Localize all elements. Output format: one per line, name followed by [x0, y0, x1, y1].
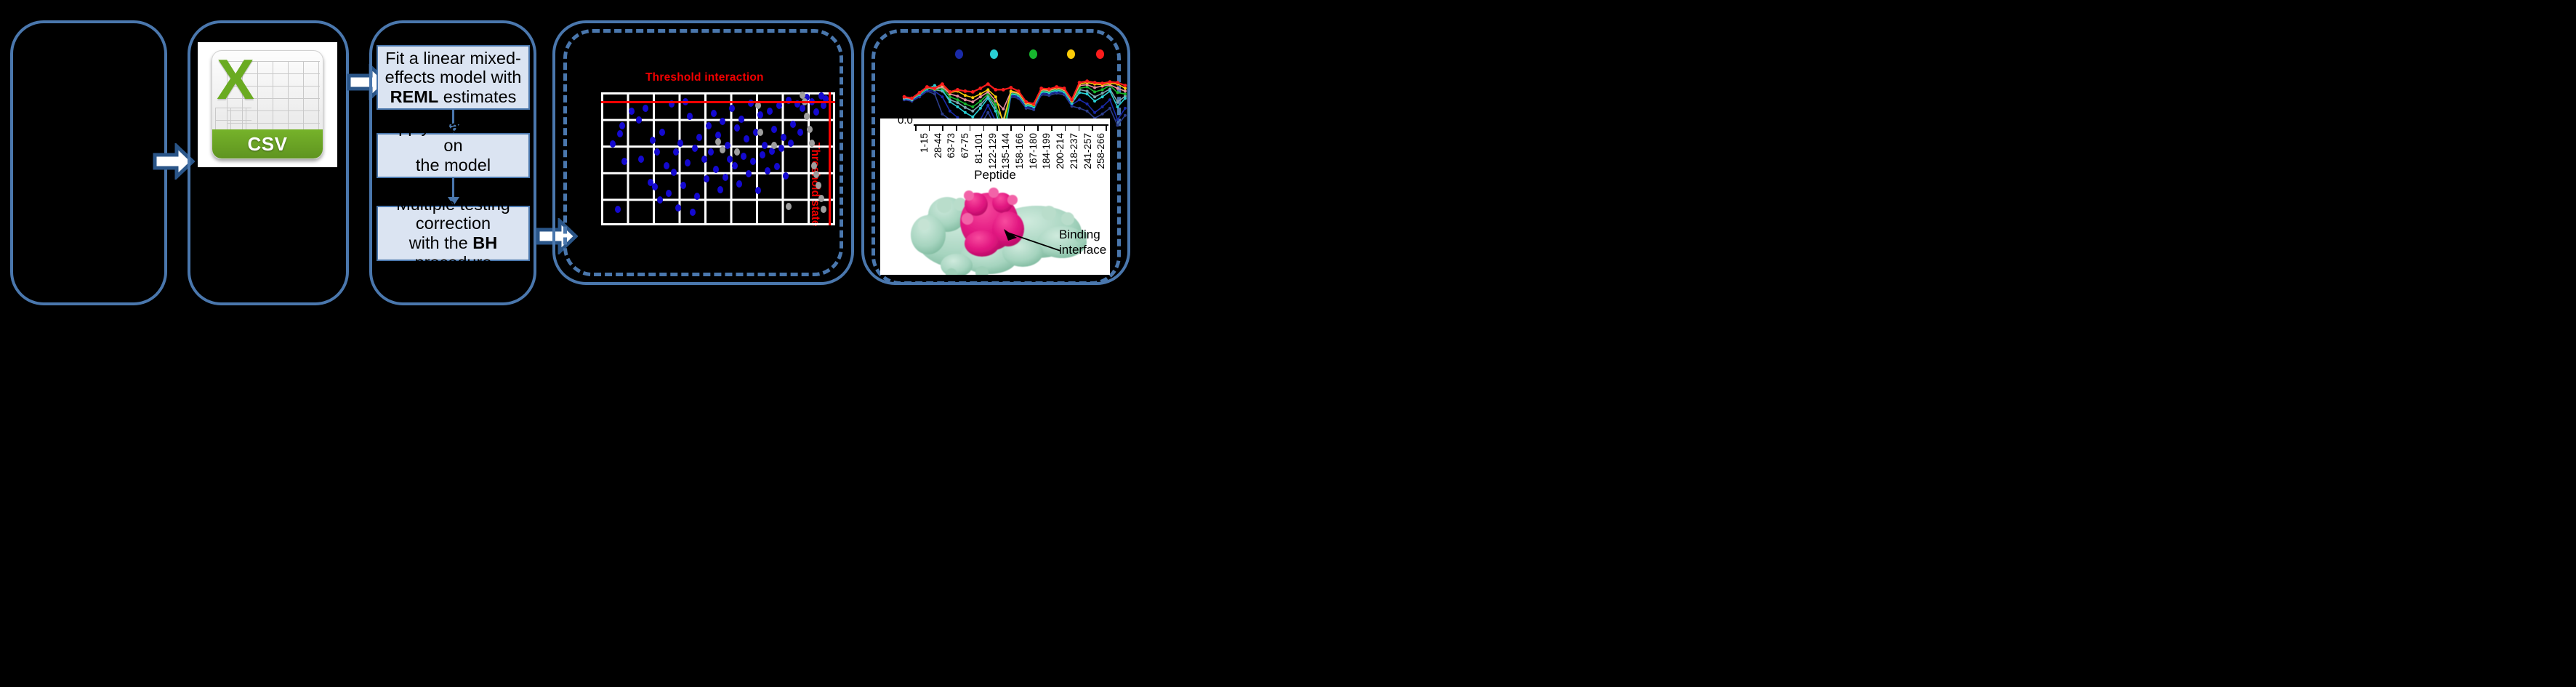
line-marker	[1101, 105, 1104, 108]
scatter-point	[715, 138, 721, 145]
peptide-label: 81-101	[973, 133, 984, 164]
peptide-label: 167-180	[1028, 133, 1039, 169]
line-marker	[986, 111, 989, 114]
x-axis-tick	[1079, 126, 1080, 131]
step3-bh-bold: BH	[472, 233, 497, 252]
line-marker	[918, 91, 922, 95]
line-marker	[1124, 87, 1127, 90]
step-wald-tests-box[interactable]: Apply Wald tests on the model parameters	[377, 133, 530, 178]
line-marker	[994, 95, 997, 98]
peptide-label: 67-75	[959, 133, 970, 158]
line-marker	[1116, 118, 1119, 121]
line-marker	[956, 88, 959, 92]
results-white-card: 0.0 1-1528-4463-7367-7581-101122-129135-…	[880, 118, 1110, 275]
line-marker	[956, 98, 959, 101]
line-marker	[1085, 79, 1089, 83]
line-marker	[971, 96, 974, 99]
volcano-scatter-plot	[601, 92, 835, 225]
line-marker	[1124, 114, 1127, 117]
line-marker	[1093, 81, 1097, 84]
line-marker	[910, 97, 914, 100]
x-axis-tick	[956, 126, 957, 131]
line-marker	[1047, 87, 1051, 91]
line-marker	[956, 105, 959, 108]
line-marker	[1093, 90, 1096, 93]
x-axis-tick	[1065, 126, 1066, 131]
line-marker	[1124, 84, 1127, 87]
line-marker	[979, 103, 982, 106]
line-marker	[986, 88, 989, 91]
threshold-interaction-line	[601, 101, 835, 103]
x-axis-tick	[1106, 126, 1107, 131]
line-marker	[1024, 100, 1028, 104]
line-marker	[964, 98, 967, 101]
step-fit-model-box[interactable]: Fit a linear mixed- effects model with R…	[377, 45, 530, 110]
line-marker	[956, 95, 959, 97]
scatter-point	[746, 170, 752, 177]
line-marker	[1108, 89, 1111, 92]
x-axis-tick	[983, 126, 985, 131]
line-marker	[1116, 91, 1119, 94]
scatter-point	[664, 162, 669, 169]
csv-band: CSV	[212, 129, 323, 158]
x-axis-title: Peptide	[880, 168, 1110, 182]
scatter-point	[790, 121, 796, 128]
line-marker	[994, 103, 997, 106]
scatter-point	[717, 186, 723, 193]
line-marker	[1108, 98, 1111, 101]
x-axis-tick	[970, 126, 971, 131]
line-marker	[1124, 89, 1127, 92]
line-marker	[964, 94, 967, 97]
legend-dot-series-green	[1029, 49, 1037, 59]
step-multiple-testing-box[interactable]: Multiple testing correction with the BH …	[377, 206, 530, 261]
line-marker	[971, 100, 974, 103]
line-marker	[1124, 107, 1127, 110]
step3-line3-post: procedure	[415, 253, 492, 272]
scatter-point	[694, 193, 700, 200]
line-marker	[971, 90, 975, 94]
line-marker	[979, 107, 982, 110]
x-axis-tick	[942, 126, 943, 131]
scatter-gridlines	[601, 92, 835, 225]
line-marker	[978, 87, 982, 90]
peptide-label: 135-144	[1000, 133, 1011, 169]
step3-line3-pre: with the	[409, 233, 473, 252]
x-axis-tick	[1051, 126, 1052, 131]
line-marker	[1108, 80, 1112, 84]
line-marker	[964, 111, 967, 114]
scatter-point	[811, 162, 817, 169]
line-marker	[1078, 81, 1082, 84]
line-marker	[1039, 87, 1043, 90]
peptide-label: 1-15	[919, 133, 930, 153]
scatter-point	[788, 140, 794, 147]
scatter-point	[800, 105, 805, 112]
line-marker	[1093, 100, 1096, 103]
line-marker	[1101, 92, 1104, 95]
line-marker	[964, 89, 967, 93]
binding-interface-line2: interface	[1059, 243, 1106, 258]
scatter-point	[727, 156, 733, 163]
scatter-point	[636, 116, 642, 124]
x-axis-tick	[929, 126, 930, 131]
line-marker	[941, 95, 943, 98]
scatter-point	[711, 110, 717, 117]
scatter-point	[767, 108, 773, 115]
threshold-interaction-label: Threshold interaction	[645, 71, 764, 84]
line-marker	[1010, 89, 1013, 92]
step2-line1-pre: Apply	[387, 117, 435, 136]
line-marker	[903, 95, 906, 99]
line-marker	[1078, 98, 1081, 101]
line-marker	[941, 82, 944, 86]
scatter-point	[619, 122, 625, 129]
scatter-point	[809, 140, 815, 147]
x-axis-tick	[915, 126, 917, 131]
scatter-point	[652, 183, 658, 190]
step1-reml-bold: REML	[390, 87, 439, 106]
line-marker	[994, 88, 997, 92]
scatter-point	[617, 130, 623, 137]
scatter-point	[786, 203, 792, 210]
line-marker	[979, 100, 982, 103]
x-axis-tick	[1092, 126, 1093, 131]
line-series-series-salmon	[904, 85, 1125, 109]
line-marker	[1116, 100, 1119, 103]
line-marker	[1093, 111, 1096, 114]
line-marker	[1100, 81, 1104, 85]
legend-dot-series-cyan	[990, 49, 998, 59]
scatter-point	[701, 156, 707, 163]
step1-line1: Fit a linear mixed-	[385, 49, 521, 68]
line-marker	[986, 82, 990, 86]
peptide-label: 200-214	[1055, 133, 1066, 169]
step1-line3-rest: estimates	[438, 87, 516, 106]
step2-wald-bold: Wald tests	[435, 117, 520, 136]
line-marker	[1009, 86, 1013, 89]
line-marker	[1002, 108, 1005, 111]
scatter-point	[659, 129, 665, 136]
csv-band-label: CSV	[248, 133, 288, 156]
line-marker	[1124, 97, 1127, 100]
scatter-point	[821, 206, 826, 213]
scatter-point	[657, 196, 663, 204]
x-axis-tick	[1010, 126, 1012, 131]
line-marker	[933, 84, 936, 87]
csv-tile: X CSV	[212, 50, 323, 159]
scatter-point	[797, 129, 803, 136]
line-marker	[1116, 87, 1119, 90]
scatter-point	[615, 206, 621, 213]
scatter-point	[704, 175, 709, 182]
line-marker	[1116, 124, 1119, 126]
line-marker	[964, 103, 967, 105]
peptide-label: 258-266	[1095, 133, 1106, 169]
line-marker	[971, 105, 974, 108]
scatter-point	[723, 174, 728, 181]
line-marker	[1086, 103, 1089, 105]
line-marker	[949, 100, 951, 103]
scatter-point	[680, 182, 686, 189]
legend-dot-series-yellow	[1067, 49, 1075, 59]
step-fit-model-text: Fit a linear mixed- effects model with R…	[382, 49, 525, 107]
line-marker	[986, 104, 989, 107]
line-marker	[1116, 105, 1119, 108]
line-marker	[986, 97, 989, 100]
peptide-label: 184-199	[1041, 133, 1052, 169]
scatter-point	[774, 163, 780, 170]
line-marker	[979, 95, 982, 98]
line-marker	[1093, 87, 1096, 89]
line-marker	[1055, 85, 1058, 89]
line-marker	[941, 113, 943, 116]
peptide-label: 277-284	[1109, 133, 1110, 169]
scatter-point	[738, 116, 744, 123]
line-marker	[949, 90, 952, 94]
step1-line2: effects model with	[385, 68, 522, 87]
scatter-point	[650, 137, 656, 144]
binding-interface-line1: Binding	[1059, 228, 1106, 243]
scatter-point	[757, 111, 763, 118]
line-marker	[949, 110, 951, 113]
scatter-point	[744, 135, 749, 142]
scatter-point	[734, 148, 740, 156]
line-marker	[1078, 107, 1081, 110]
line-marker	[1070, 98, 1074, 102]
x-axis-tick	[1024, 126, 1026, 131]
step3-line1: Multiple testing	[396, 195, 510, 214]
line-marker	[1086, 92, 1089, 95]
step3-line2: correction	[416, 214, 491, 233]
scatter-point	[732, 162, 738, 169]
scatter-point	[713, 166, 719, 173]
peptide-label: 218-237	[1068, 133, 1079, 169]
line-marker	[971, 110, 974, 113]
line-marker	[949, 95, 951, 98]
scatter-point	[690, 209, 696, 216]
csv-file-icon: X CSV	[198, 42, 337, 167]
legend-dot-series-blue	[955, 49, 963, 59]
x-axis-tick	[1037, 126, 1039, 131]
line-marker	[1116, 81, 1119, 84]
scatter-point	[629, 108, 635, 115]
peptide-label: 28-44	[933, 133, 943, 158]
scatter-point	[725, 142, 730, 149]
binding-interface-label: Binding interface	[1059, 228, 1106, 257]
scatter-point	[778, 145, 784, 152]
scatter-point	[638, 156, 644, 163]
line-marker	[933, 87, 937, 90]
line-marker	[1063, 87, 1066, 90]
scatter-point	[757, 129, 763, 136]
threshold-state-line	[829, 92, 831, 225]
line-marker	[1032, 103, 1036, 106]
line-marker	[1017, 89, 1021, 93]
line-marker	[956, 101, 959, 104]
scatter-point	[706, 122, 712, 129]
scatter-point	[765, 167, 770, 174]
line-marker	[1078, 91, 1081, 94]
input-stage-container	[10, 20, 167, 305]
x-axis-tick	[997, 126, 998, 131]
line-marker	[1101, 95, 1104, 98]
line-marker	[925, 85, 929, 89]
line-marker	[1101, 88, 1104, 91]
line-marker	[1086, 110, 1089, 113]
line-marker	[1101, 113, 1104, 116]
line-marker	[964, 106, 967, 109]
peptide-label: 241-257	[1082, 133, 1093, 169]
step-multiple-testing-text: Multiple testing correction with the BH …	[378, 195, 528, 272]
peptide-axis-area: 0.0 1-1528-4463-7367-7581-101122-129135-…	[880, 118, 1110, 185]
line-marker	[1086, 89, 1089, 92]
line-marker	[1002, 88, 1005, 92]
scatter-point	[807, 126, 813, 133]
line-marker	[933, 92, 936, 95]
scatter-point	[818, 195, 824, 202]
line-marker	[1108, 107, 1111, 110]
legend-dot-series-red	[1096, 49, 1104, 59]
peptide-label: 63-73	[946, 133, 957, 158]
peptide-label: 158-166	[1014, 133, 1025, 169]
step2-line1-post: on	[443, 136, 462, 155]
line-marker	[1124, 92, 1127, 95]
line-marker	[979, 92, 982, 95]
line-marker	[1093, 95, 1096, 98]
y-axis-tick-label: 0.0	[898, 118, 913, 126]
excel-x-glyph: X	[217, 52, 254, 106]
scatter-point	[692, 145, 698, 152]
scatter-point	[671, 169, 677, 176]
peptide-label: 122-129	[987, 133, 998, 169]
